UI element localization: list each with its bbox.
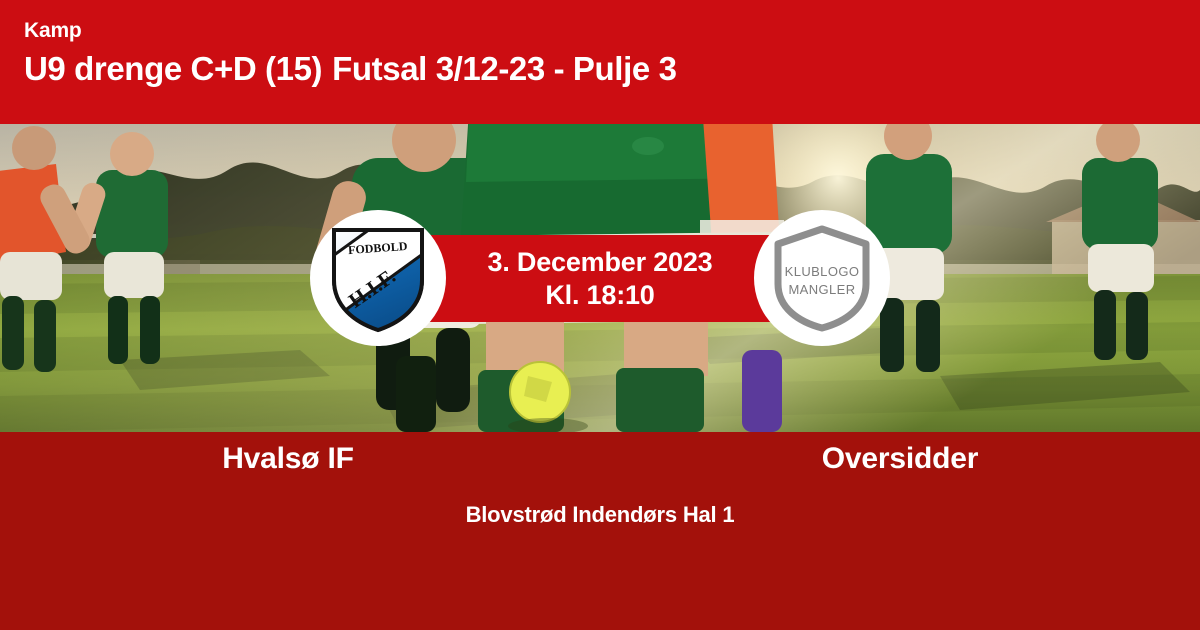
venue-name: Blovstrød Indendørs Hal 1 xyxy=(0,504,1200,526)
away-team-name: Oversidder xyxy=(600,444,1200,474)
missing-club-logo-icon: KLUBLOGO MANGLER xyxy=(771,222,873,334)
match-date: 3. December 2023 xyxy=(488,246,713,279)
home-team-name: Hvalsø IF xyxy=(0,444,588,474)
title-competition: U9 drenge C+D (15) xyxy=(24,50,322,87)
match-time: Kl. 18:10 xyxy=(545,279,654,312)
home-club-logo: FODBOLD H.I.F. xyxy=(310,210,446,346)
match-info-panel: Hvalsø IF Oversidder Blovstrød Indendørs… xyxy=(0,432,1200,630)
poster-header: Kamp U9 drenge C+D (15)Futsal 3/12-23 - … xyxy=(0,0,1200,124)
missing-logo-line1: KLUBLOGO xyxy=(785,264,860,279)
title-group: Futsal 3/12-23 - Pulje 3 xyxy=(332,50,676,87)
match-poster: Kamp U9 drenge C+D (15)Futsal 3/12-23 - … xyxy=(0,0,1200,630)
hif-crest-icon: FODBOLD H.I.F. xyxy=(326,222,430,334)
away-club-logo: KLUBLOGO MANGLER xyxy=(754,210,890,346)
missing-logo-line2: MANGLER xyxy=(788,282,855,297)
header-kicker: Kamp xyxy=(24,20,1200,41)
page-title: U9 drenge C+D (15)Futsal 3/12-23 - Pulje… xyxy=(24,51,1200,88)
teams-row: Hvalsø IF Oversidder xyxy=(0,444,1200,474)
